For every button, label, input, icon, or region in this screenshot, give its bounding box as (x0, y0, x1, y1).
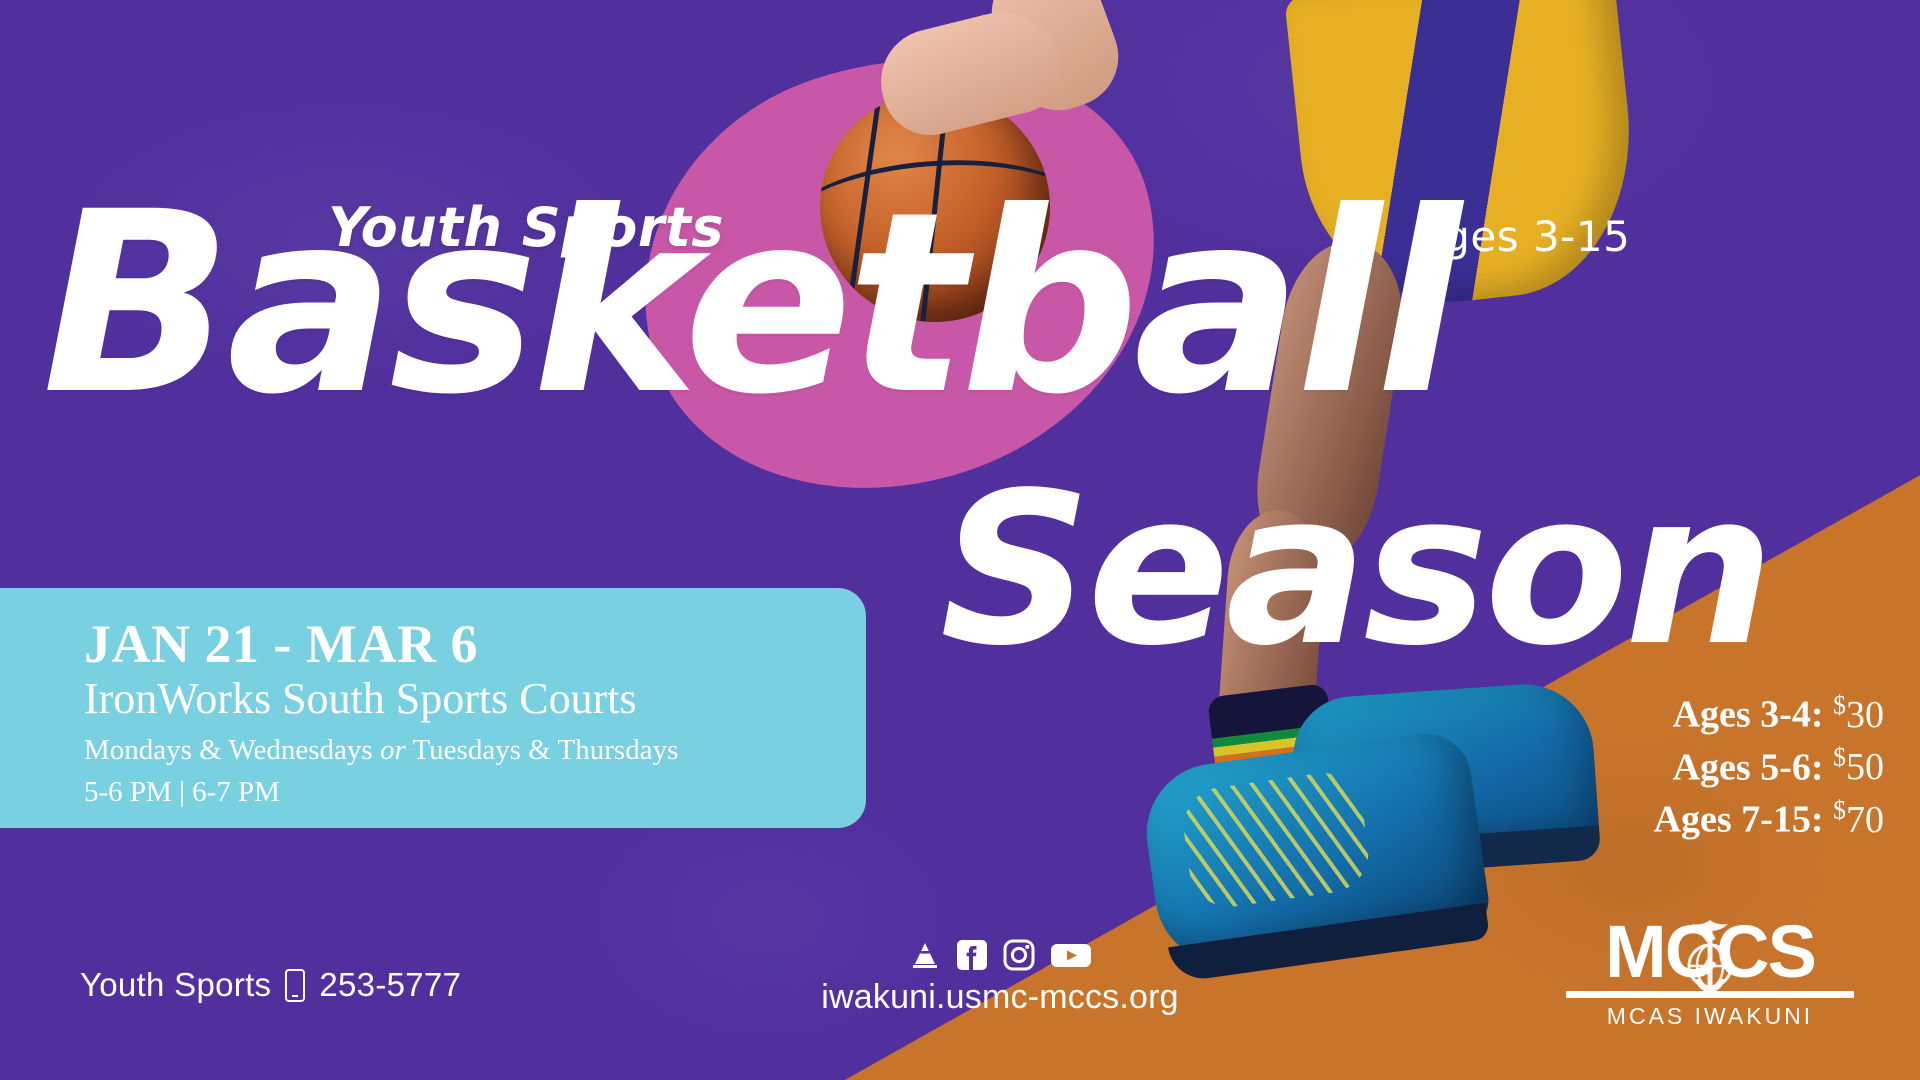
price-row: Ages 7-15: $70 (1654, 793, 1884, 846)
price-row: Ages 3-4: $30 (1654, 688, 1884, 741)
currency-symbol: $ (1833, 795, 1846, 824)
price-value: 70 (1846, 799, 1884, 841)
price-row: Ages 5-6: $50 (1654, 741, 1884, 794)
event-times: 5-6 PM | 6-7 PM (84, 774, 826, 812)
contact-phone-number[interactable]: 253-5777 (319, 966, 461, 1004)
price-amount: $30 (1833, 694, 1884, 736)
event-venue: IronWorks South Sports Courts (84, 674, 826, 723)
price-value: 50 (1846, 746, 1884, 788)
page-title: Basketball (42, 196, 1456, 411)
mccs-app-icon[interactable] (908, 938, 942, 972)
contact-info: Youth Sports 253-5777 (80, 966, 461, 1004)
event-info-card: JAN 21 - MAR 6 IronWorks South Sports Co… (0, 588, 866, 828)
price-label: Ages 3-4: (1673, 694, 1824, 736)
price-amount: $50 (1833, 746, 1884, 788)
mccs-logo: MCCS MCAS IWAKUNI (1560, 918, 1860, 1030)
phone-icon (285, 969, 305, 1002)
days-conjunction: or (380, 734, 406, 766)
social-icon-row (790, 938, 1210, 972)
youtube-icon[interactable] (1049, 938, 1093, 972)
currency-symbol: $ (1833, 690, 1846, 719)
price-amount: $70 (1833, 799, 1884, 841)
event-days: Mondays & Wednesdays or Tuesdays & Thurs… (84, 732, 826, 770)
poster-canvas: Youth Sports Ages 3-15 Basketball Season… (0, 0, 1920, 1080)
price-label: Ages 7-15: (1654, 799, 1824, 841)
price-value: 30 (1846, 694, 1884, 736)
currency-symbol: $ (1833, 743, 1846, 772)
instagram-icon[interactable] (1002, 938, 1036, 972)
social-and-website: iwakuni.usmc-mccs.org (790, 938, 1210, 1017)
days-second: Tuesdays & Thursdays (406, 734, 679, 766)
contact-program-label: Youth Sports (80, 966, 271, 1004)
page-subtitle: Season (940, 480, 1770, 661)
price-label: Ages 5-6: (1673, 746, 1824, 788)
facebook-icon[interactable] (955, 938, 989, 972)
eagle-globe-anchor-icon (1671, 914, 1749, 1000)
installation-name: MCAS IWAKUNI (1560, 1003, 1860, 1030)
days-first: Mondays & Wednesdays (84, 734, 380, 766)
price-list: Ages 3-4: $30 Ages 5-6: $50 Ages 7-15: $… (1654, 688, 1884, 846)
website-url[interactable]: iwakuni.usmc-mccs.org (790, 978, 1210, 1017)
event-dates: JAN 21 - MAR 6 (84, 616, 826, 672)
